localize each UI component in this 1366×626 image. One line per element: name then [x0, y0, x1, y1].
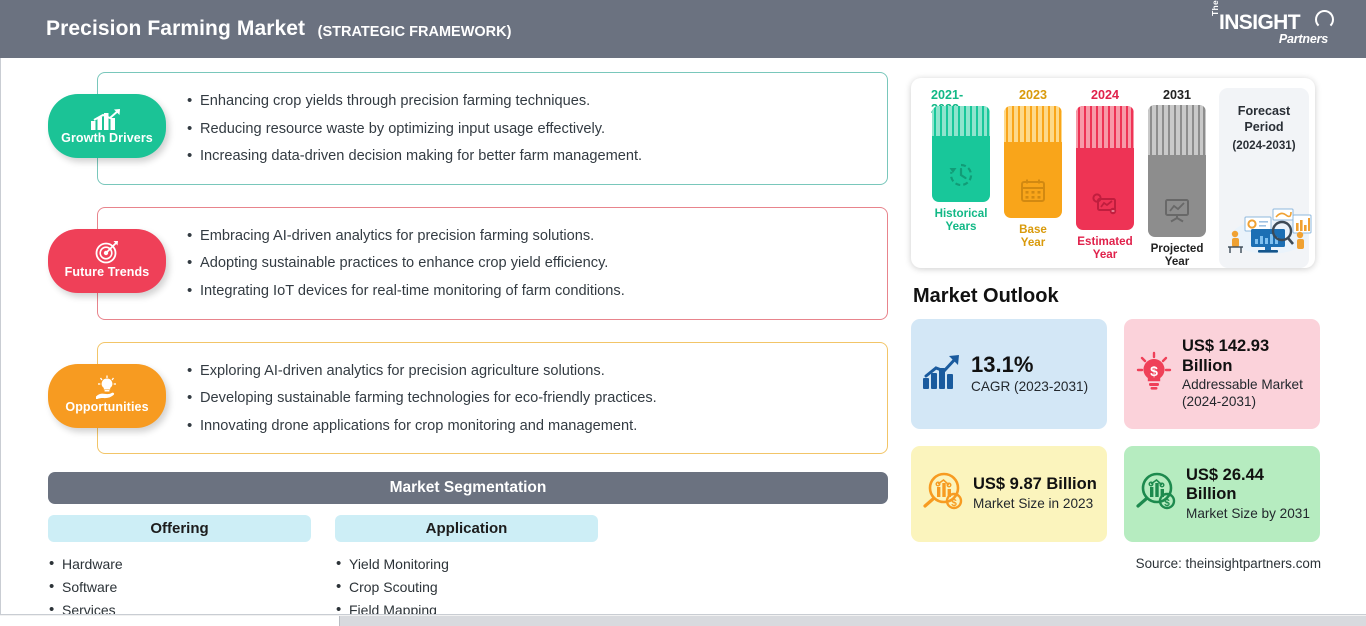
bar-shape [1076, 106, 1134, 230]
card-caption: CAGR (2023-2031) [971, 379, 1088, 396]
timeline-bar-estimated: 2024 [1075, 88, 1135, 268]
bar-stripe-pattern [1148, 105, 1206, 155]
panel-growth-drivers: Growth Drivers Enhancing crop yields thr… [48, 72, 888, 185]
content-frame: Growth Drivers Enhancing crop yields thr… [0, 58, 1366, 614]
page-title-text: Precision Farming Market [46, 17, 305, 40]
badge-future-trends[interactable]: Future Trends [48, 229, 166, 293]
bar-shape [932, 106, 990, 202]
timeline-bar-base: 2023 [1003, 88, 1063, 268]
bar-category-label: ProjectedYear [1151, 242, 1204, 268]
outlook-card-market-size-2031: $ US$ 26.44 Billion Market Size by 2031 [1124, 446, 1320, 542]
timeline-bars: 2021-2022 [917, 88, 1207, 268]
bar-year-label: 2024 [1091, 88, 1119, 104]
bar-stripe-pattern [1076, 106, 1134, 148]
logo-partners-text: Partners [1279, 32, 1328, 46]
study-period-timeline-chart: 2021-2022 [911, 78, 1315, 268]
list-item: Reducing resource waste by optimizing in… [200, 116, 870, 144]
forecast-period-panel: ForecastPeriod (2024-2031) [1219, 88, 1309, 268]
list-item: Hardware [48, 553, 311, 576]
outlook-card-addressable-market: $ US$ 142.93 Billion Addressable Market … [1124, 319, 1320, 429]
list-item: Crop Scouting [335, 576, 598, 599]
card-value: US$ 26.44 Billion [1186, 466, 1312, 505]
card-caption: Market Size by 2031 [1186, 506, 1312, 523]
card-text: 13.1% CAGR (2023-2031) [971, 352, 1088, 396]
badge-growth-drivers[interactable]: Growth Drivers [48, 94, 166, 158]
bar-category-label: EstimatedYear [1077, 235, 1132, 261]
card-caption: Market Size in 2023 [973, 496, 1097, 513]
right-column: 2021-2022 [911, 78, 1331, 571]
page-title: Precision Farming Market (STRATEGIC FRAM… [0, 17, 511, 41]
source-attribution: Source: theinsightpartners.com [911, 556, 1321, 571]
business-analytics-illustration [1223, 201, 1315, 260]
bullet-list-opportunities: Exploring AI-driven analytics for precis… [200, 342, 888, 455]
outlook-card-market-size-2023: $ US$ 9.87 Billion Market Size in 2023 [911, 446, 1107, 542]
forecast-period-range: (2024-2031) [1232, 139, 1295, 152]
bullet-list-future-trends: Embracing AI-driven analytics for precis… [200, 207, 888, 320]
bar-year-label: 2021-2022 [931, 88, 991, 104]
bar-shape [1004, 106, 1062, 218]
bar-year-label: 2031 [1163, 88, 1191, 103]
segmentation-column-offering: Offering Hardware Software Services [48, 515, 311, 621]
timeline-bar-historical: 2021-2022 [931, 88, 991, 268]
badge-label: Future Trends [65, 265, 150, 279]
panel-opportunities: Opportunities Exploring AI-driven analyt… [48, 342, 888, 455]
list-item: Exploring AI-driven analytics for precis… [200, 358, 870, 386]
card-value: US$ 9.87 Billion [973, 475, 1097, 494]
list-item: Innovating drone applications for crop m… [200, 413, 870, 441]
lightbulb-hand-icon [92, 377, 122, 399]
bar-shape [1148, 105, 1206, 237]
svg-text:$: $ [1164, 498, 1170, 509]
segmentation-list-application: Yield Monitoring Crop Scouting Field Map… [335, 553, 598, 621]
scrollbar-thumb[interactable] [0, 616, 340, 626]
svg-text:$: $ [951, 498, 957, 509]
forecast-period-title: ForecastPeriod [1238, 104, 1291, 135]
badge-label: Opportunities [65, 400, 148, 414]
list-item: Yield Monitoring [335, 553, 598, 576]
list-item: Developing sustainable farming technolog… [200, 385, 870, 413]
page-header: Precision Farming Market (STRATEGIC FRAM… [0, 0, 1366, 58]
card-text: US$ 26.44 Billion Market Size by 2031 [1186, 466, 1312, 523]
list-item: Software [48, 576, 311, 599]
scrollbar-track[interactable] [340, 616, 1366, 626]
bar-stripe-pattern [1004, 106, 1062, 142]
segmentation-columns: Offering Hardware Software Services Appl… [48, 515, 888, 621]
bar-category-label: BaseYear [1019, 223, 1047, 249]
presentation-chart-icon [1163, 197, 1191, 228]
list-item: Embracing AI-driven analytics for precis… [200, 223, 870, 251]
infographic-page: Precision Farming Market (STRATEGIC FRAM… [0, 0, 1366, 626]
bar-chart-arrow-up-icon [90, 108, 124, 130]
panel-future-trends: Future Trends Embracing AI-driven analyt… [48, 207, 888, 320]
card-value: US$ 142.93 Billion [1182, 337, 1312, 376]
badge-label: Growth Drivers [61, 131, 153, 145]
magnifier-chart-dollar-icon: $ [1134, 471, 1178, 518]
card-text: US$ 142.93 Billion Addressable Market (2… [1182, 337, 1312, 411]
horizontal-scrollbar[interactable] [0, 614, 1366, 626]
market-segmentation-title: Market Segmentation [390, 479, 547, 497]
left-column: Growth Drivers Enhancing crop yields thr… [48, 72, 888, 621]
target-dart-icon [94, 242, 120, 264]
bar-category-label: HistoricalYears [935, 207, 988, 233]
list-item: Increasing data-driven decision making f… [200, 143, 870, 171]
calendar-icon [1020, 178, 1046, 209]
card-caption: Addressable Market (2024-2031) [1182, 377, 1312, 411]
segmentation-column-header: Offering [48, 515, 311, 542]
page-subtitle-text: (STRATEGIC FRAMEWORK) [318, 24, 512, 40]
list-item: Enhancing crop yields through precision … [200, 88, 870, 116]
bar-stripe-pattern [932, 106, 990, 136]
growth-chart-icon [921, 352, 963, 397]
badge-opportunities[interactable]: Opportunities [48, 364, 166, 428]
market-segmentation-header: Market Segmentation [48, 472, 888, 504]
segmentation-column-application: Application Yield Monitoring Crop Scouti… [335, 515, 598, 621]
market-outlook-cards: 13.1% CAGR (2023-2031) [911, 319, 1321, 542]
magnifier-chart-dollar-icon: $ [921, 471, 965, 518]
segmentation-column-header: Application [335, 515, 598, 542]
bar-year-label: 2023 [1019, 88, 1047, 104]
analytics-gear-icon [1091, 192, 1119, 221]
clock-history-icon [948, 162, 974, 193]
bullet-list-growth-drivers: Enhancing crop yields through precision … [200, 72, 888, 185]
card-value: 13.1% [971, 352, 1088, 378]
market-outlook-title: Market Outlook [913, 285, 1331, 308]
lightbulb-dollar-icon: $ [1134, 351, 1174, 398]
outlook-card-cagr: 13.1% CAGR (2023-2031) [911, 319, 1107, 429]
segmentation-list-offering: Hardware Software Services [48, 553, 311, 621]
insight-partners-logo[interactable]: The INSIGHT Partners [1210, 10, 1334, 50]
list-item: Adopting sustainable practices to enhanc… [200, 250, 870, 278]
list-item: Integrating IoT devices for real-time mo… [200, 278, 870, 306]
card-text: US$ 9.87 Billion Market Size in 2023 [973, 475, 1097, 512]
timeline-bar-projected: 2031 [1147, 88, 1207, 268]
logo-circle-icon [1315, 10, 1334, 29]
svg-text:$: $ [1150, 363, 1158, 379]
